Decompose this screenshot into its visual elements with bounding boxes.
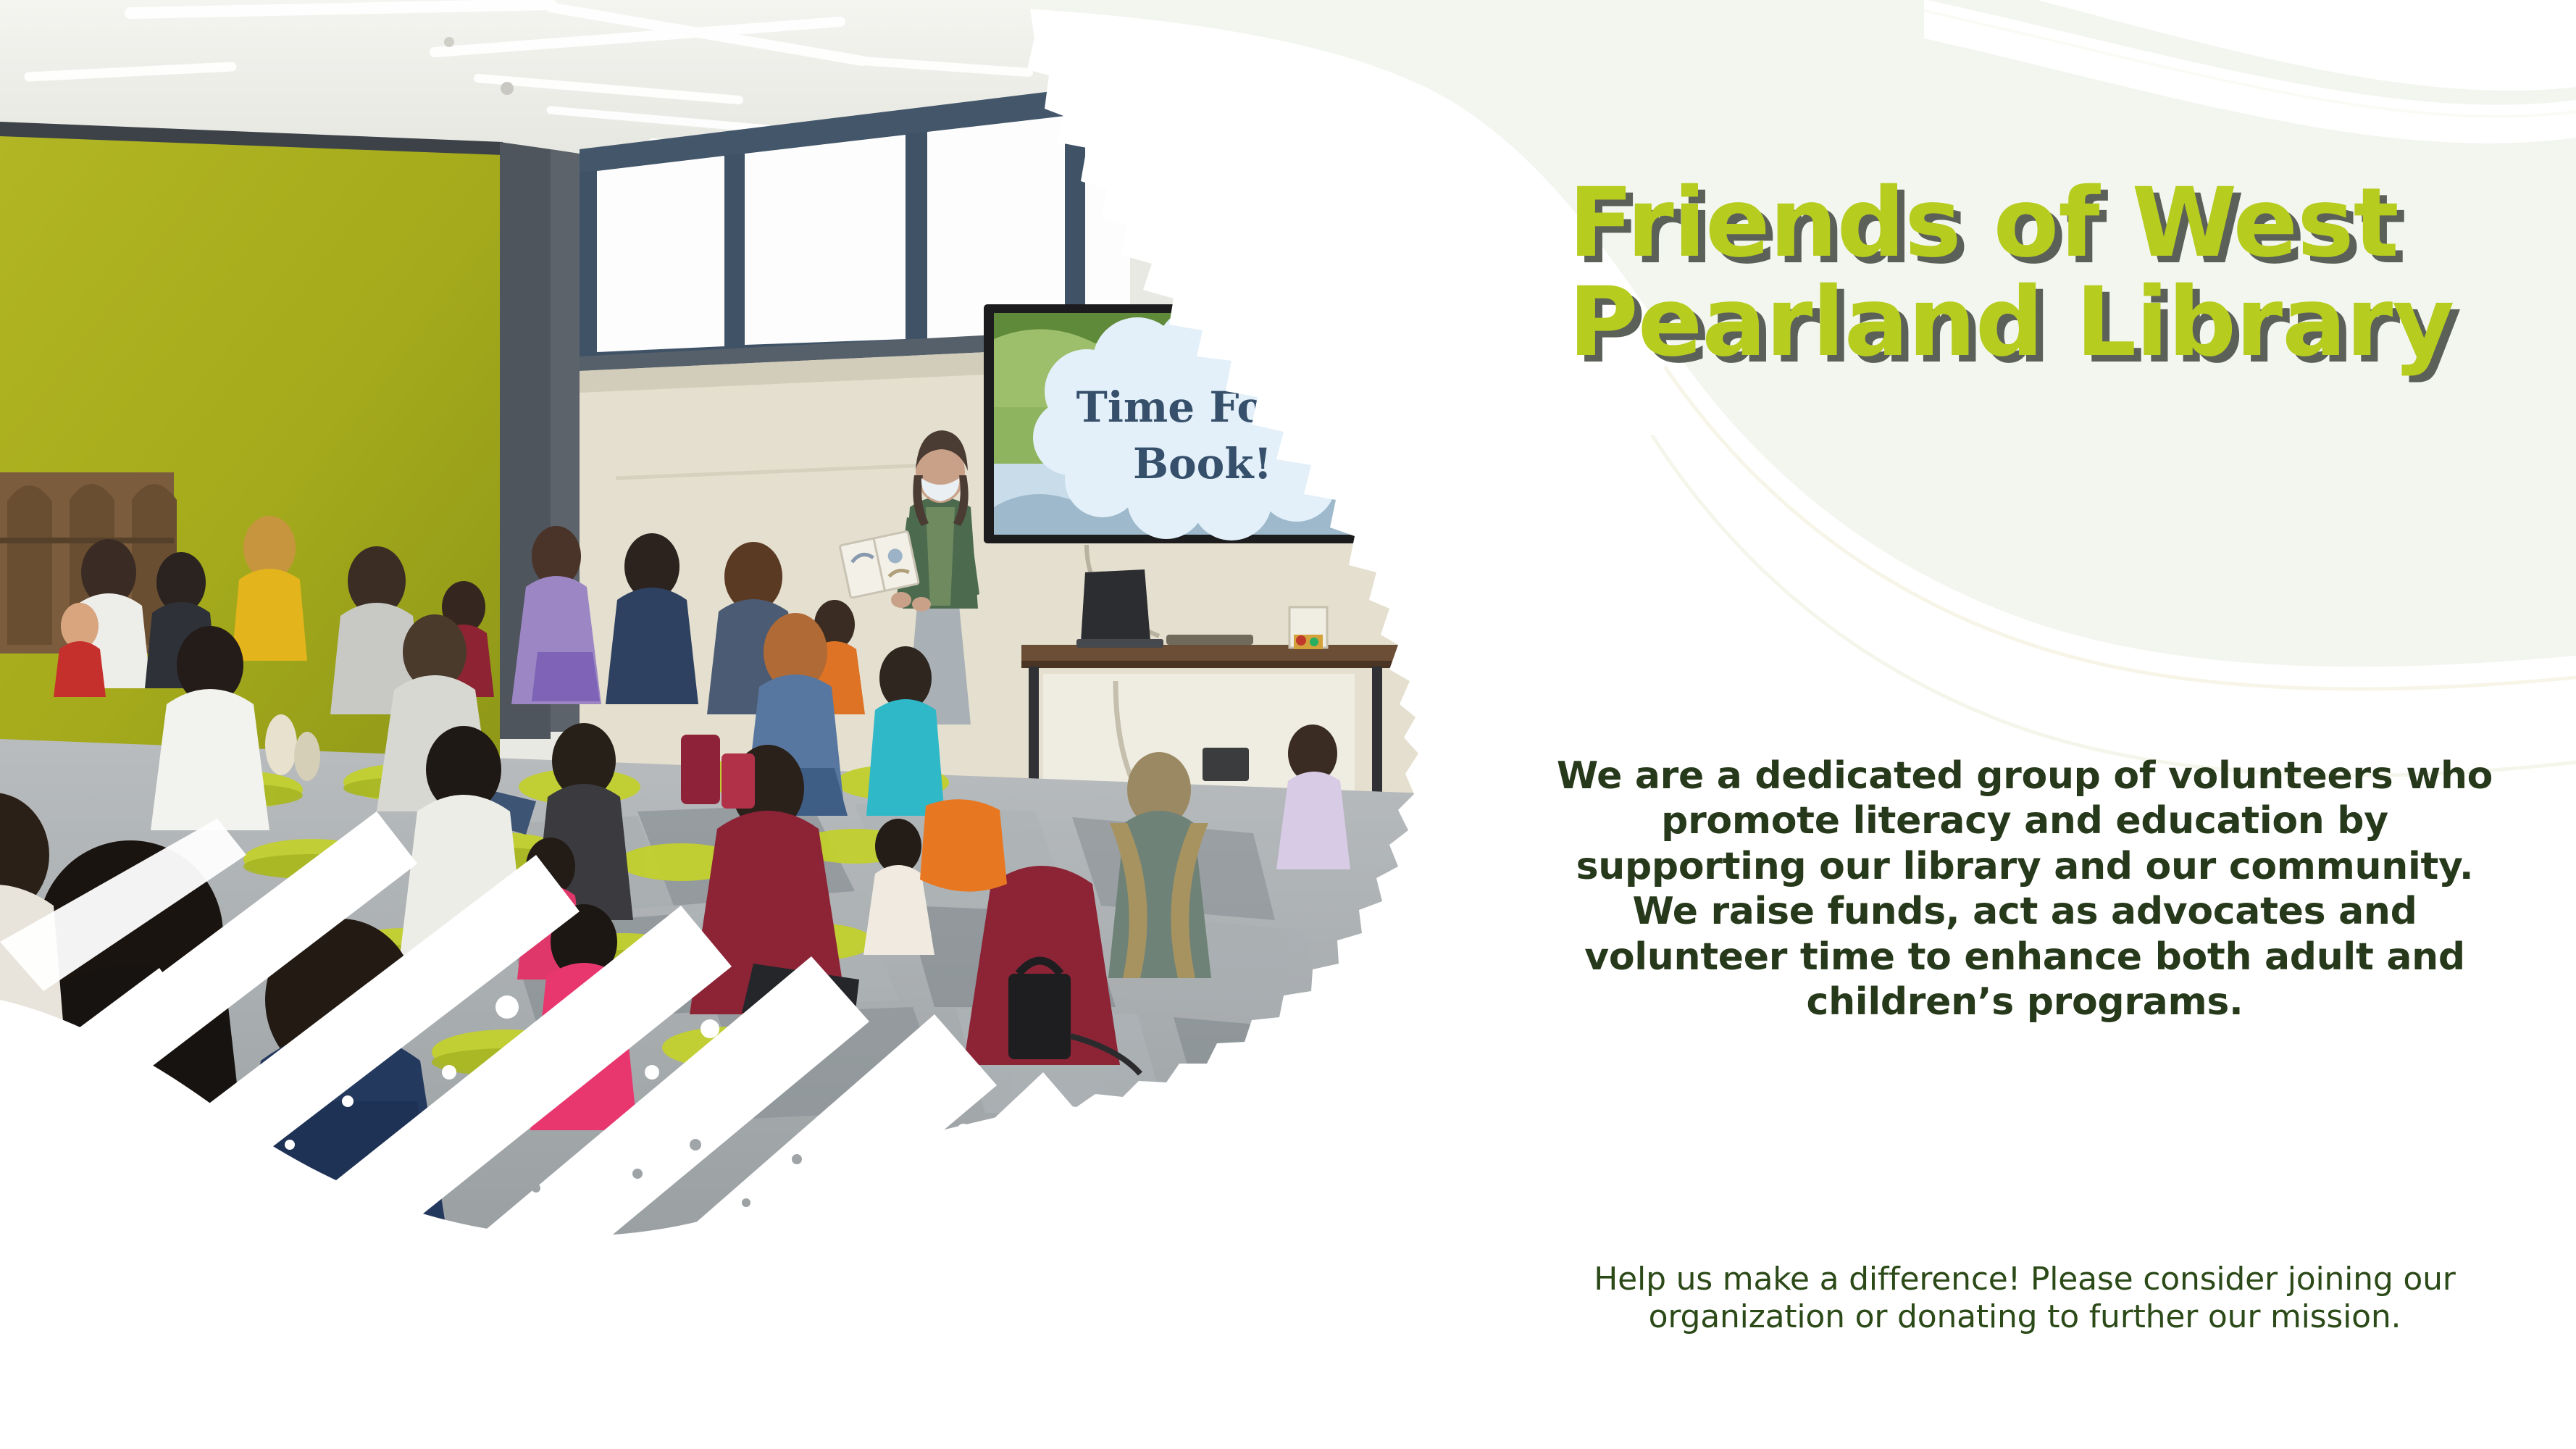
mission-paragraph: We are a dedicated group of volunteers w… [1547,753,2503,1024]
slide-canvas: Time For a Book! [0,0,2576,1449]
call-to-action-paragraph: Help us make a difference! Please consid… [1547,1261,2503,1336]
library-story-time-photo: Time For a Book! [0,0,1521,1449]
photo-svg: Time For a Book! [0,0,1521,1449]
slide-screen-line1: Time For a [1076,383,1329,432]
slide-screen-line2: Book! [1133,439,1272,488]
page-title: Friends of West Pearland Library [1568,174,2532,373]
